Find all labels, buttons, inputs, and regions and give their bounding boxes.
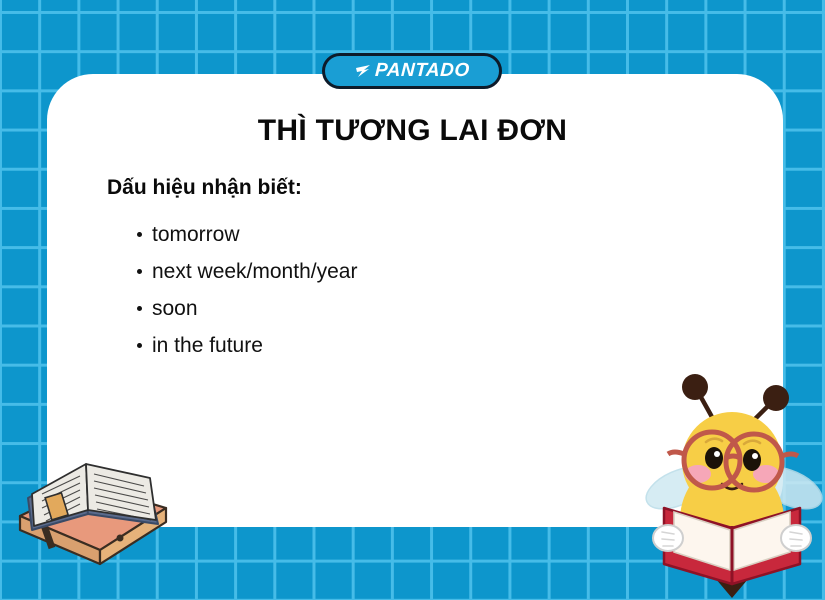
bee-head: [682, 412, 782, 512]
list-item-label: tomorrow: [152, 223, 240, 246]
arrow-swoosh-icon: [355, 65, 371, 78]
antenna-pom-icon: [763, 385, 789, 411]
logo-text: PANTADO: [374, 60, 470, 82]
bullet-dot-icon: [137, 343, 142, 348]
list-item-label: next week/month/year: [152, 260, 357, 283]
list-item: tomorrow: [137, 216, 357, 253]
bullet-dot-icon: [137, 232, 142, 237]
list-item-label: soon: [152, 297, 198, 320]
page-title: THÌ TƯƠNG LAI ĐƠN: [0, 114, 825, 148]
list-item: soon: [137, 290, 357, 327]
bullet-dot-icon: [137, 306, 142, 311]
list-item: in the future: [137, 327, 357, 364]
list-item-label: in the future: [152, 334, 263, 357]
bee-reading-book-illustration: [640, 370, 825, 600]
subheading: Dấu hiệu nhận biết:: [107, 176, 302, 200]
signal-words-list: tomorrow next week/month/year soon in th…: [137, 216, 357, 364]
antenna-pom-icon: [682, 374, 708, 400]
stack-of-books-illustration: [8, 438, 178, 568]
bullet-dot-icon: [137, 269, 142, 274]
pantado-logo-badge: PANTADO: [322, 53, 502, 89]
list-item: next week/month/year: [137, 253, 357, 290]
